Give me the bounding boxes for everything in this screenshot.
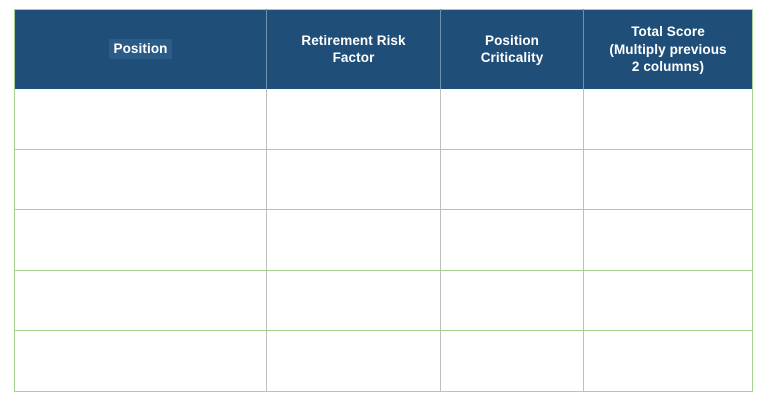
cell-retirement-risk[interactable] — [267, 149, 441, 210]
column-header-position-highlight: Position — [109, 39, 171, 59]
cell-position-criticality[interactable] — [441, 149, 584, 210]
cell-total-score[interactable] — [584, 331, 753, 392]
cell-position-criticality[interactable] — [441, 270, 584, 331]
cell-retirement-risk[interactable] — [267, 89, 441, 150]
column-header-retirement-risk-factor-line-2: Factor — [333, 49, 375, 66]
succession-planning-table: Position Retirement Risk Factor Position… — [14, 9, 753, 392]
table-row — [15, 149, 753, 210]
table-row — [15, 270, 753, 331]
column-header-position-criticality-line-1: Position — [485, 32, 539, 49]
cell-position[interactable] — [15, 270, 267, 331]
column-header-total-score-line-2: (Multiply previous — [609, 41, 726, 58]
table-header-row: Position Retirement Risk Factor Position… — [15, 10, 753, 89]
table-body — [15, 89, 753, 392]
column-header-total-score-line-3: 2 columns) — [632, 58, 704, 75]
table-row — [15, 210, 753, 271]
cell-position[interactable] — [15, 89, 267, 150]
cell-retirement-risk[interactable] — [267, 210, 441, 271]
column-header-position-criticality[interactable]: Position Criticality — [441, 10, 584, 89]
table-row — [15, 89, 753, 150]
cell-position-criticality[interactable] — [441, 89, 584, 150]
column-header-position[interactable]: Position — [15, 10, 267, 89]
table-header: Position Retirement Risk Factor Position… — [15, 10, 753, 89]
table-row — [15, 331, 753, 392]
cell-retirement-risk[interactable] — [267, 270, 441, 331]
cell-position-criticality[interactable] — [441, 210, 584, 271]
cell-total-score[interactable] — [584, 149, 753, 210]
cell-position[interactable] — [15, 331, 267, 392]
worksheet-table-container: Position Retirement Risk Factor Position… — [14, 9, 752, 392]
column-header-position-line-1: Position — [113, 41, 167, 56]
cell-retirement-risk[interactable] — [267, 331, 441, 392]
column-header-total-score[interactable]: Total Score (Multiply previous 2 columns… — [584, 10, 753, 89]
cell-position[interactable] — [15, 149, 267, 210]
cell-total-score[interactable] — [584, 270, 753, 331]
cell-total-score[interactable] — [584, 210, 753, 271]
column-header-position-criticality-line-2: Criticality — [481, 49, 544, 66]
column-header-total-score-line-1: Total Score — [631, 23, 705, 40]
cell-position-criticality[interactable] — [441, 331, 584, 392]
column-header-retirement-risk-factor[interactable]: Retirement Risk Factor — [267, 10, 441, 89]
cell-position[interactable] — [15, 210, 267, 271]
column-header-retirement-risk-factor-line-1: Retirement Risk — [301, 32, 405, 49]
cell-total-score[interactable] — [584, 89, 753, 150]
